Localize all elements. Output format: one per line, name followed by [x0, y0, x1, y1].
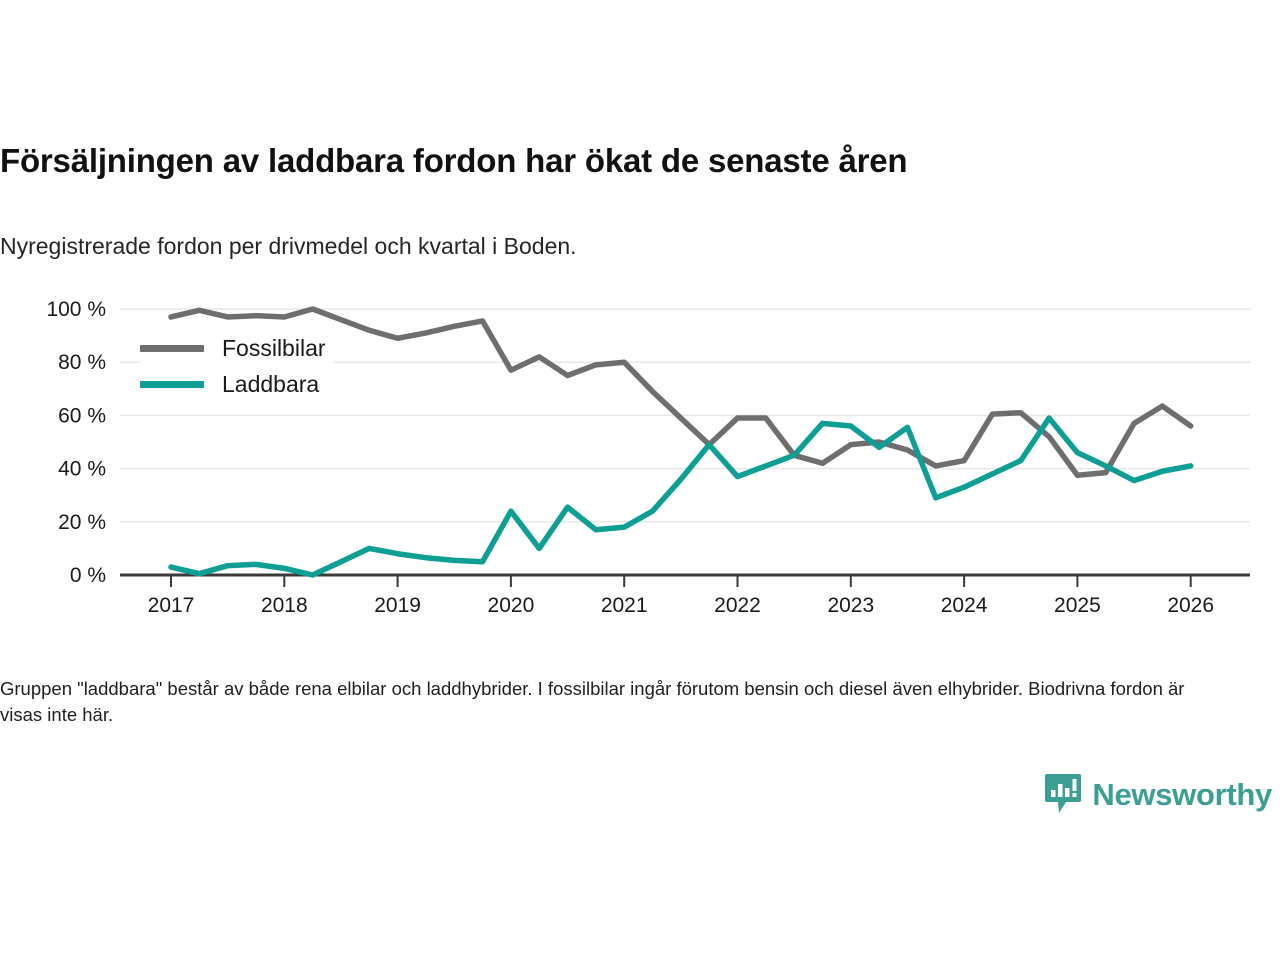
y-axis-labels: 0 %20 %40 %60 %80 %100 %: [46, 298, 106, 587]
x-axis-tick-label: 2017: [148, 594, 195, 617]
y-axis-tick-label: 20 %: [58, 511, 106, 534]
x-axis-tick-label: 2022: [714, 594, 761, 617]
series-line-laddbara: [171, 418, 1191, 575]
legend-swatch-fossilbilar: [140, 345, 204, 352]
x-axis: [120, 575, 1250, 587]
x-axis-tick-label: 2020: [488, 594, 535, 617]
y-axis-tick-label: 100 %: [46, 298, 106, 321]
y-axis-tick-label: 0 %: [70, 564, 106, 587]
y-axis-tick-label: 40 %: [58, 458, 106, 481]
chart-legend: Fossilbilar Laddbara: [140, 330, 334, 402]
x-axis-tick-label: 2024: [941, 594, 988, 617]
x-axis-tick-label: 2019: [374, 594, 421, 617]
x-axis-labels: 2017201820192020202120222023202420252026: [148, 594, 1214, 617]
newsworthy-bubble-chart-icon: [1044, 772, 1082, 816]
legend-swatch-laddbara: [140, 381, 204, 388]
y-axis-tick-label: 80 %: [58, 351, 106, 374]
newsworthy-logo[interactable]: Newsworthy: [1044, 772, 1272, 816]
x-axis-tick-label: 2025: [1054, 594, 1101, 617]
x-axis-tick-label: 2018: [261, 594, 308, 617]
x-axis-tick-label: 2021: [601, 594, 648, 617]
chart-footnote: Gruppen "laddbara" består av både rena e…: [0, 676, 1210, 729]
page-title: Försäljningen av laddbara fordon har öka…: [0, 142, 1250, 180]
legend-item-fossilbilar[interactable]: Fossilbilar: [140, 330, 334, 366]
newsworthy-wordmark: Newsworthy: [1092, 779, 1272, 810]
chart-page: Försäljningen av laddbara fordon har öka…: [0, 0, 1280, 960]
legend-label-fossilbilar: Fossilbilar: [222, 337, 326, 360]
legend-label-laddbara: Laddbara: [222, 373, 319, 396]
legend-item-laddbara[interactable]: Laddbara: [140, 366, 334, 402]
x-axis-tick-label: 2023: [827, 594, 874, 617]
x-axis-tick-label: 2026: [1167, 594, 1214, 617]
page-subtitle: Nyregistrerade fordon per drivmedel och …: [0, 233, 1250, 261]
y-axis-tick-label: 60 %: [58, 404, 106, 427]
